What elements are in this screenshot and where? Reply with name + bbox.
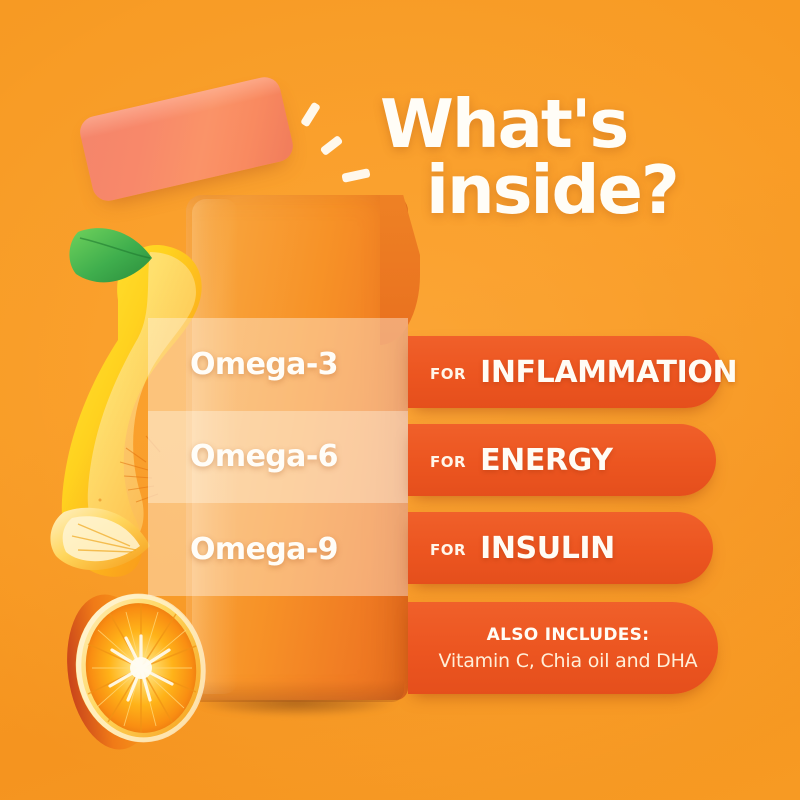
benefit-text: INFLAMMATION xyxy=(480,355,737,390)
ingredient-name: Omega-3 xyxy=(148,347,338,382)
ingredient-row: Omega-9 xyxy=(148,503,408,596)
benefit-pill: FOR ENERGY xyxy=(408,424,716,496)
benefit-for-label: FOR xyxy=(430,365,466,383)
benefit-pill: FOR INFLAMMATION xyxy=(408,336,722,408)
ingredient-name: Omega-9 xyxy=(148,532,338,567)
benefit-text: INSULIN xyxy=(480,531,615,566)
ingredient-name: Omega-6 xyxy=(148,439,338,474)
also-includes-pill: ALSO INCLUDES: Vitamin C, Chia oil and D… xyxy=(408,602,718,694)
benefit-text: ENERGY xyxy=(480,443,612,478)
also-includes-title: ALSO INCLUDES: xyxy=(487,625,650,645)
also-includes-items: Vitamin C, Chia oil and DHA xyxy=(439,650,698,672)
benefit-for-label: FOR xyxy=(430,541,466,559)
orange-half-slice xyxy=(58,586,214,756)
ingredient-row: Omega-6 xyxy=(148,411,408,504)
page-title-line-2: inside? xyxy=(426,158,780,224)
benefit-for-label: FOR xyxy=(430,453,466,471)
page-title: What's inside? xyxy=(380,92,780,223)
poster-canvas: What's inside? Omega-3 Omega-6 Omega-9 F… xyxy=(0,0,800,800)
benefit-pill: FOR INSULIN xyxy=(408,512,713,584)
ingredient-row: Omega-3 xyxy=(148,318,408,411)
ingredient-label-panel: Omega-3 Omega-6 Omega-9 xyxy=(148,318,408,596)
